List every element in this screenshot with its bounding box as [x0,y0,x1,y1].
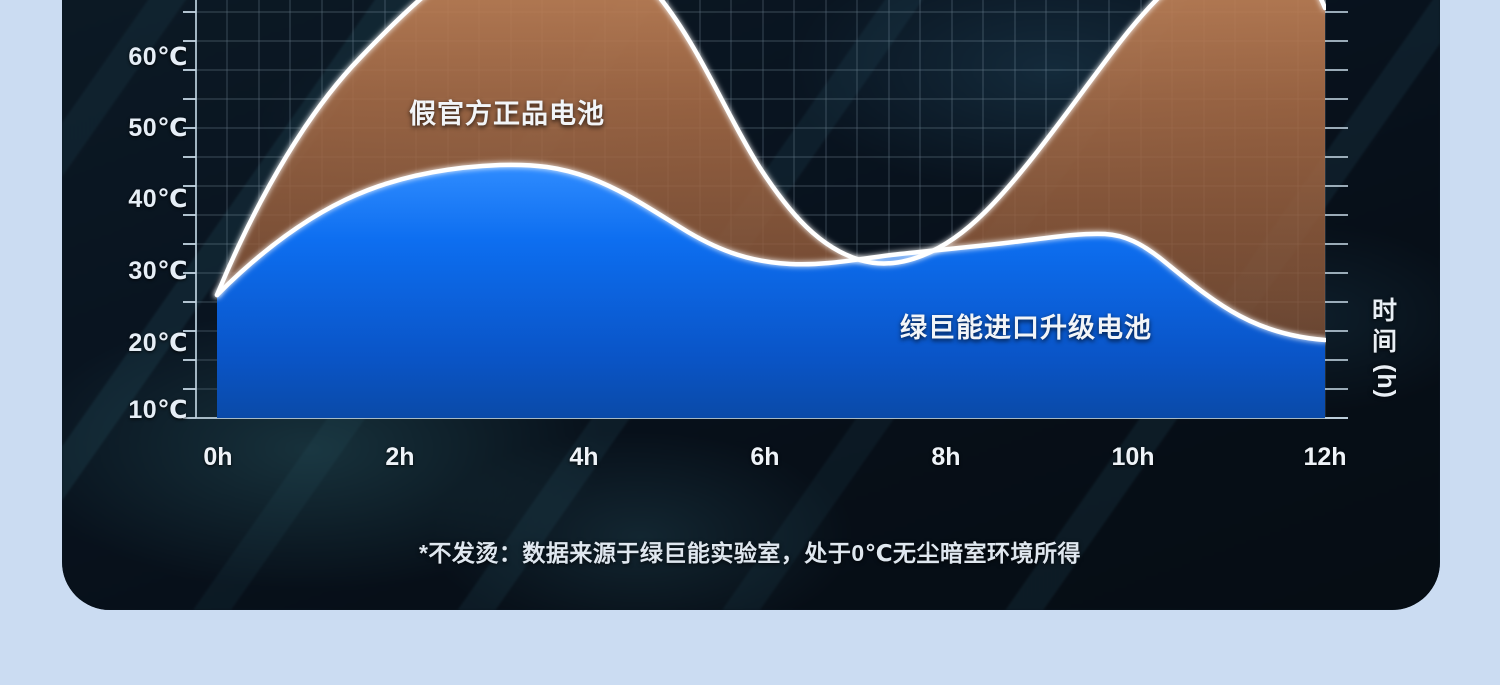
series-label-orange: 假官方正品电池 [409,92,605,131]
x-tick-6h: 6h [750,443,779,472]
x-tick-8h: 8h [931,443,960,472]
y-tick-10: 10℃ [128,395,188,425]
y-axis-tick-labels: 60℃ 50℃ 40℃ 30℃ 20℃ 10℃ [0,0,188,685]
chart-footnote: *不发烫：数据来源于绿巨能实验室，处于0℃无尘暗室环境所得 [0,534,1500,568]
x-tick-4h: 4h [569,443,598,472]
x-tick-10h: 10h [1111,443,1154,472]
x-tick-2h: 2h [385,443,414,472]
x-tick-12h: 12h [1303,443,1346,472]
y-axis-title: 时间 (h) [1362,296,1408,397]
y-tick-60: 60℃ [128,42,188,72]
series-label-blue: 绿巨能进口升级电池 [900,306,1152,345]
y-tick-30: 30℃ [128,256,188,286]
y-tick-50: 50℃ [128,113,188,143]
y-axis-unit: (h) [1369,364,1400,399]
y-axis-title-text: 时间 [1362,296,1408,358]
temperature-area-chart [0,0,1500,685]
y-tick-40: 40℃ [128,184,188,214]
y-tick-20: 20℃ [128,328,188,358]
x-tick-0h: 0h [203,443,232,472]
chart-screenshot: 60℃ 50℃ 40℃ 30℃ 20℃ 10℃ 0h 2h 4h 6h 8h 1… [0,0,1500,685]
